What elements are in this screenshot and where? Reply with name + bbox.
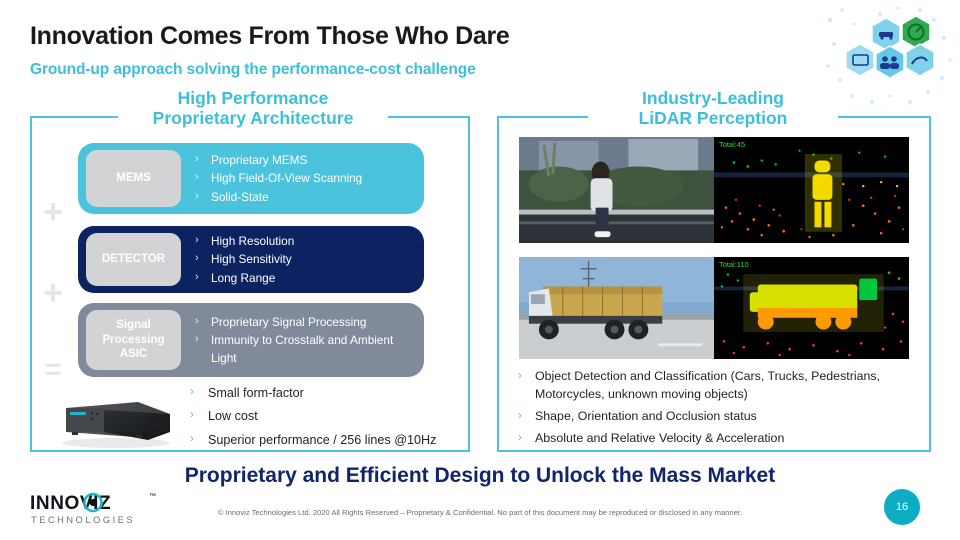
tech-block-signal-processing-asic: Signal Processing ASIC ›Proprietary Sign…	[78, 303, 424, 377]
hexagon-cluster-decoration	[824, 4, 954, 108]
pedestrian-camera-photo	[519, 137, 714, 243]
list-item: ›Proprietary Signal Processing	[195, 313, 416, 331]
truck-pointcloud: Total:110	[714, 257, 909, 359]
chevron-right-icon: ›	[190, 405, 208, 426]
list-item: ›High Field-Of-View Scanning	[195, 169, 416, 187]
right-heading-line2: LiDAR Perception	[598, 109, 828, 129]
page-title: Innovation Comes From Those Who Dare	[30, 22, 510, 51]
left-panel-heading: High Performance Proprietary Architectur…	[118, 89, 388, 128]
lidar-device-photo	[52, 386, 180, 450]
chevron-right-icon: ›	[195, 269, 211, 286]
tech-block-mems: MEMS ›Proprietary MEMS ›High Field-Of-Vi…	[78, 143, 424, 214]
list-item: ›High Sensitivity	[195, 250, 416, 268]
right-panel-heading: Industry-Leading LiDAR Perception	[588, 89, 838, 128]
list-item: ›High Resolution	[195, 232, 416, 250]
list-item: ›Low cost	[190, 405, 460, 428]
tech-badge-mems: MEMS	[86, 150, 181, 207]
chevron-right-icon: ›	[518, 408, 535, 425]
pointcloud-overlay-label: Total:110	[719, 260, 749, 269]
list-item: ›Object Detection and Classification (Ca…	[518, 368, 918, 404]
chevron-right-icon: ›	[195, 232, 211, 249]
pedestrian-pointcloud: Total:45	[714, 137, 909, 243]
list-item: ›Superior performance / 256 lines @10Hz	[190, 429, 460, 452]
chevron-right-icon: ›	[195, 313, 211, 330]
pointcloud-overlay-label: Total:45	[719, 140, 745, 149]
tech-list-detector: ›High Resolution ›High Sensitivity ›Long…	[181, 232, 424, 287]
tech-badge-detector: DETECTOR	[86, 233, 181, 286]
list-item: ›Proprietary MEMS	[195, 151, 416, 169]
chevron-right-icon: ›	[195, 169, 211, 186]
chevron-right-icon: ›	[195, 151, 211, 168]
operator-plus-1: +	[38, 195, 68, 229]
chevron-right-icon: ›	[195, 188, 211, 205]
operator-plus-2: +	[38, 276, 68, 310]
list-item: ›Absolute and Relative Velocity & Accele…	[518, 430, 918, 448]
tech-list-mems: ›Proprietary MEMS ›High Field-Of-View Sc…	[181, 151, 424, 206]
tech-block-detector: DETECTOR ›High Resolution ›High Sensitiv…	[78, 226, 424, 293]
list-item: ›Immunity to Crosstalk and Ambient Light	[195, 331, 416, 368]
truck-camera-photo	[519, 257, 714, 359]
logo-tagline: TECHNOLOGIES	[31, 515, 135, 525]
chevron-right-icon: ›	[195, 331, 211, 348]
list-item: ›Solid-State	[195, 188, 416, 206]
image-pair-pedestrian: Total:45	[518, 136, 910, 244]
right-panel-bullets: ›Object Detection and Classification (Ca…	[518, 368, 918, 452]
operator-equals: =	[38, 355, 68, 385]
chevron-right-icon: ›	[195, 250, 211, 267]
chevron-right-icon: ›	[190, 382, 208, 403]
list-item: ›Shape, Orientation and Occlusion status	[518, 408, 918, 426]
left-heading-line2: Proprietary Architecture	[128, 109, 378, 129]
list-item: ›Long Range	[195, 269, 416, 287]
image-pair-truck: Total:110	[518, 256, 910, 360]
chevron-right-icon: ›	[518, 430, 535, 447]
chevron-right-icon: ›	[518, 368, 535, 385]
innoviz-logo: INNOVIZ ™ TECHNOLOGIES	[30, 490, 180, 530]
left-summary-bullets: ›Small form-factor ›Low cost ›Superior p…	[190, 382, 460, 452]
tech-badge-asic: Signal Processing ASIC	[86, 310, 181, 370]
footer-banner: Proprietary and Efficient Design to Unlo…	[0, 464, 960, 488]
page-number-badge: 16	[884, 489, 920, 525]
chevron-right-icon: ›	[190, 429, 208, 450]
right-heading-line1: Industry-Leading	[598, 89, 828, 109]
left-heading-line1: High Performance	[128, 89, 378, 109]
logo-trademark: ™	[149, 493, 156, 500]
tech-list-asic: ›Proprietary Signal Processing ›Immunity…	[181, 313, 424, 368]
list-item: ›Small form-factor	[190, 382, 460, 405]
page-subtitle: Ground-up approach solving the performan…	[30, 61, 476, 79]
